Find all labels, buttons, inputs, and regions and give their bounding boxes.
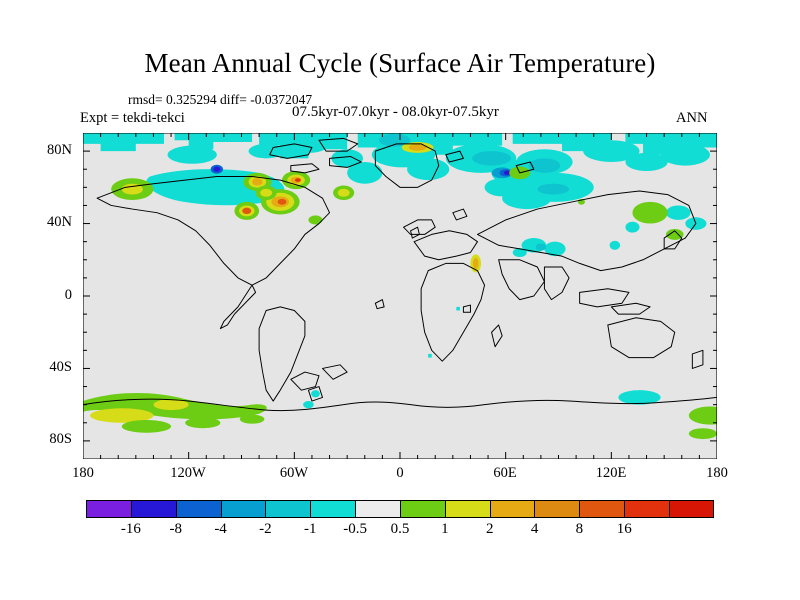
lat-tick-label: 80S bbox=[26, 431, 72, 448]
colorbar-cell[interactable] bbox=[624, 500, 669, 518]
lat-tick-label: 0 bbox=[26, 287, 72, 304]
lon-tick-label: 120W bbox=[158, 465, 218, 482]
colorbar-cell[interactable] bbox=[86, 500, 131, 518]
climate-map-figure: Mean Annual Cycle (Surface Air Temperatu… bbox=[0, 0, 800, 600]
colorbar-cell[interactable] bbox=[355, 500, 400, 518]
colorbar-cell[interactable] bbox=[579, 500, 624, 518]
lat-tick-label: 80N bbox=[26, 142, 72, 159]
colorbar-cell[interactable] bbox=[265, 500, 310, 518]
axis-ticks bbox=[83, 133, 717, 459]
colorbar[interactable] bbox=[86, 500, 714, 518]
experiment-label: Expt = tekdi-tekci bbox=[80, 110, 185, 127]
lon-tick-label: 60W bbox=[264, 465, 324, 482]
colorbar-cell[interactable] bbox=[445, 500, 490, 518]
season-label: ANN bbox=[676, 110, 707, 127]
lon-tick-label: 60E bbox=[475, 465, 535, 482]
lon-tick-label: 120E bbox=[581, 465, 641, 482]
rmsd-statistics-label: rmsd= 0.325294 diff= -0.0372047 bbox=[128, 92, 312, 108]
lon-tick-label: 180 bbox=[53, 465, 113, 482]
colorbar-cell[interactable] bbox=[400, 500, 445, 518]
map-plot-area bbox=[83, 133, 717, 459]
colorbar-cell[interactable] bbox=[131, 500, 176, 518]
lat-tick-label: 40N bbox=[26, 214, 72, 231]
colorbar-cell[interactable] bbox=[221, 500, 266, 518]
colorbar-cell[interactable] bbox=[176, 500, 221, 518]
subtitle: 07.5kyr-07.0kyr - 08.0kyr-07.5kyr bbox=[292, 104, 499, 121]
lat-tick-label: 40S bbox=[26, 359, 72, 376]
colorbar-cell[interactable] bbox=[310, 500, 355, 518]
page-title: Mean Annual Cycle (Surface Air Temperatu… bbox=[0, 48, 800, 79]
colorbar-cell[interactable] bbox=[490, 500, 535, 518]
colorbar-cell[interactable] bbox=[669, 500, 714, 518]
lon-tick-label: 180 bbox=[687, 465, 747, 482]
lon-tick-label: 0 bbox=[370, 465, 430, 482]
colorbar-tick-label: 16 bbox=[596, 521, 652, 538]
colorbar-cell[interactable] bbox=[534, 500, 579, 518]
